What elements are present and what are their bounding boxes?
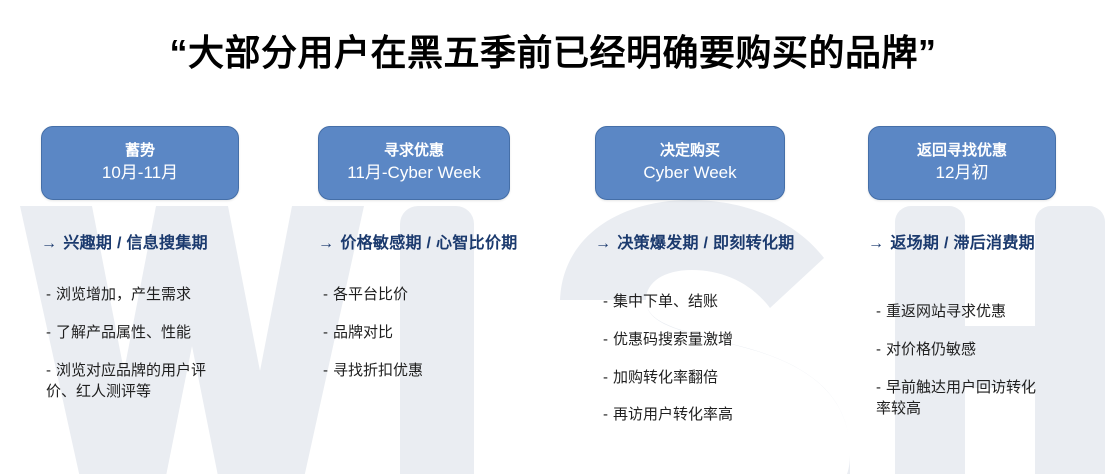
stage-card-3[interactable]: 决定购买 Cyber Week (595, 126, 785, 200)
arrow-right-icon: → (868, 235, 884, 252)
stage-name-4: 返回寻找优惠 (917, 141, 1007, 161)
list-item: -集中下单、结账 (603, 291, 871, 313)
arrow-right-icon: → (595, 235, 611, 252)
list-item-text: 再访用户转化率高 (613, 406, 733, 423)
bullet-dash-icon: - (603, 331, 608, 348)
bullet-dash-icon: - (46, 362, 51, 379)
stage-period-2: 11月-Cyber Week (347, 162, 481, 185)
bullet-list-3: -集中下单、结账 -优惠码搜索量激增 -加购转化率翻倍 -再访用户转化率高 (603, 291, 871, 426)
list-item-text: 品牌对比 (333, 324, 393, 341)
stage-period-1: 10月-11月 (102, 162, 178, 185)
bullet-dash-icon: - (323, 324, 328, 341)
bullet-dash-icon: - (323, 362, 328, 379)
list-item: -浏览增加，产生需求 (46, 284, 314, 306)
list-item: -对价格仍敏感 (876, 339, 1106, 361)
bullet-dash-icon: - (603, 369, 608, 386)
bullet-dash-icon: - (876, 379, 881, 396)
list-item-text: 早前触达用户回访转化 率较高 (876, 379, 1036, 418)
list-item: -品牌对比 (323, 322, 591, 344)
list-item-text: 了解产品属性、性能 (56, 324, 191, 341)
bullet-dash-icon: - (46, 324, 51, 341)
list-item: -早前触达用户回访转化 率较高 (876, 377, 1106, 421)
stage-name-1: 蓄势 (125, 141, 155, 161)
list-item-text: 浏览增加，产生需求 (56, 286, 191, 303)
stage-card-1[interactable]: 蓄势 10月-11月 (41, 126, 239, 200)
list-item: -各平台比价 (323, 284, 591, 306)
list-item-text: 寻找折扣优惠 (333, 362, 423, 379)
stage-name-2: 寻求优惠 (384, 141, 444, 161)
list-item-text: 对价格仍敏感 (886, 341, 976, 358)
phase-label-3: →决策爆发期 / 即刻转化期 (595, 229, 795, 253)
bullet-dash-icon: - (46, 286, 51, 303)
list-item-text: 浏览对应品牌的用户评 价、红人测评等 (46, 362, 206, 401)
arrow-right-icon: → (41, 235, 57, 252)
list-item: -再访用户转化率高 (603, 404, 871, 426)
phase-label-text-1: 兴趣期 / 信息搜集期 (63, 235, 208, 252)
bullet-dash-icon: - (876, 341, 881, 358)
list-item: -寻找折扣优惠 (323, 360, 591, 382)
phase-label-text-3: 决策爆发期 / 即刻转化期 (617, 235, 794, 252)
stage-card-2[interactable]: 寻求优惠 11月-Cyber Week (318, 126, 510, 200)
page-title: “大部分用户在黑五季前已经明确要购买的品牌” (0, 24, 1106, 76)
bullet-list-4: -重返网站寻求优惠 -对价格仍敏感 -早前触达用户回访转化 率较高 (876, 301, 1106, 420)
list-item: -了解产品属性、性能 (46, 322, 314, 344)
bullet-dash-icon: - (603, 406, 608, 423)
list-item: -重返网站寻求优惠 (876, 301, 1106, 323)
stage-card-4[interactable]: 返回寻找优惠 12月初 (868, 126, 1056, 200)
list-item-text: 优惠码搜索量激增 (613, 331, 733, 348)
arrow-right-icon: → (318, 235, 334, 252)
list-item: -优惠码搜索量激增 (603, 329, 871, 351)
list-item: -加购转化率翻倍 (603, 367, 871, 389)
phase-label-4: →返场期 / 滞后消费期 (868, 229, 1035, 253)
bullet-dash-icon: - (876, 303, 881, 320)
bullet-dash-icon: - (603, 293, 608, 310)
phase-label-text-4: 返场期 / 滞后消费期 (890, 235, 1035, 252)
stage-period-3: Cyber Week (643, 162, 736, 185)
bullet-dash-icon: - (323, 286, 328, 303)
phase-label-1: →兴趣期 / 信息搜集期 (41, 229, 208, 253)
slide-canvas: “大部分用户在黑五季前已经明确要购买的品牌” 蓄势 10月-11月 →兴趣期 /… (0, 0, 1106, 474)
list-item-text: 集中下单、结账 (613, 293, 718, 310)
stage-period-4: 12月初 (936, 162, 989, 185)
bullet-list-2: -各平台比价 -品牌对比 -寻找折扣优惠 (323, 284, 591, 381)
list-item-text: 重返网站寻求优惠 (886, 303, 1006, 320)
phase-label-text-2: 价格敏感期 / 心智比价期 (340, 235, 517, 252)
bullet-list-1: -浏览增加，产生需求 -了解产品属性、性能 -浏览对应品牌的用户评 价、红人测评… (46, 284, 314, 403)
list-item: -浏览对应品牌的用户评 价、红人测评等 (46, 360, 314, 404)
phase-label-2: →价格敏感期 / 心智比价期 (318, 229, 518, 253)
stage-name-3: 决定购买 (660, 141, 720, 161)
list-item-text: 加购转化率翻倍 (613, 369, 718, 386)
list-item-text: 各平台比价 (333, 286, 408, 303)
